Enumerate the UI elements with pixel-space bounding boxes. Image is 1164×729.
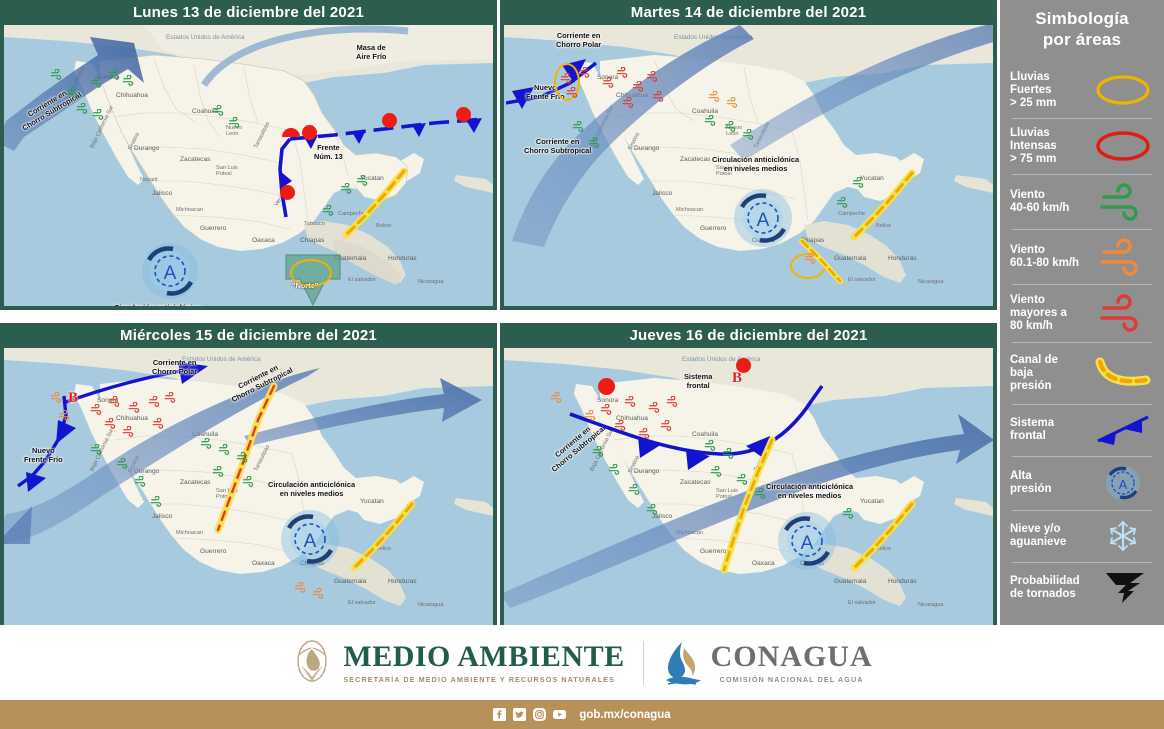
wind-icon-green	[356, 175, 369, 186]
legend-label-line3: 80 km/h	[1010, 320, 1067, 333]
wind-icon-green	[134, 476, 147, 487]
wind-icon-green	[588, 137, 601, 148]
cold-air-mass-arc	[194, 25, 424, 91]
legend-label: Alta presión	[1010, 470, 1052, 496]
legend-item-viento-80[interactable]: Viento mayores a 80 km/h	[1000, 284, 1164, 342]
annotation-frente-num-13: FrenteNúm. 13	[314, 143, 343, 161]
legend-item-alta-presion[interactable]: Alta presión A	[1000, 456, 1164, 510]
conagua-logo: CONAGUA COMISIÓN NACIONAL DEL AGUA	[662, 640, 873, 686]
wind-icon-green	[340, 183, 353, 194]
wind-green-icon	[1094, 183, 1152, 221]
map-canvas-martes[interactable]: Estados Unidos de América Chihuahua Coah…	[504, 25, 993, 306]
ellipse-red-icon	[1094, 127, 1152, 165]
trough-line-chiapas	[796, 237, 866, 297]
panel-title-martes: Martes 14 de diciembre del 2021	[500, 0, 997, 25]
wind-icon-orange	[50, 392, 63, 403]
infographic-root: Lunes 13 de diciembre del 2021	[0, 0, 1164, 729]
annotation-frontal-system-jueves: Sistemafrontal	[684, 372, 712, 390]
wind-icon-green	[608, 464, 621, 475]
trough-line-yucatan-miercoles	[334, 498, 424, 578]
map-grid: Lunes 13 de diciembre del 2021	[0, 0, 1000, 625]
brand-row: MEDIO AMBIENTE SECRETARÍA DE MEDIO AMBIE…	[0, 625, 1164, 700]
legend-label-line1: Nieve y/o	[1010, 523, 1066, 536]
wind-icon-green	[218, 444, 231, 455]
legend-label-line2: presión	[1010, 483, 1052, 496]
wind-icon-red	[660, 420, 673, 431]
map-panel-jueves[interactable]: Jueves 16 de diciembre del 2021	[500, 323, 997, 633]
tornado-icon	[1094, 569, 1152, 607]
wind-icon-red	[648, 402, 661, 413]
legend-label-line1: Viento	[1010, 244, 1079, 257]
legend-label: Viento 40-60 km/h	[1010, 189, 1069, 215]
wind-icon-red	[148, 396, 161, 407]
legend-label: Nieve y/o aguanieve	[1010, 523, 1066, 549]
svg-text:A: A	[757, 210, 770, 231]
snowflake-icon	[1094, 517, 1152, 555]
legend-label: Sistema frontal	[1010, 417, 1054, 443]
svg-text:A: A	[304, 531, 317, 552]
wind-icon-green	[852, 177, 865, 188]
trough-line-yucatan	[326, 165, 416, 245]
high-pressure-icon: A	[1094, 464, 1152, 502]
map-panel-miercoles[interactable]: Miércoles 15 de diciembre del 2021	[0, 323, 497, 633]
wind-icon-red	[164, 392, 177, 403]
wind-icon-green	[592, 446, 605, 457]
wind-icon-green	[724, 121, 737, 132]
legend-panel: Simbología por áreas Lluvias Fuertes > 2…	[1000, 0, 1164, 625]
wind-icon-red	[616, 67, 629, 78]
annotation-anticyclone-martes: Circulación anticiclónicaen niveles medi…	[712, 155, 799, 173]
wind-icon-green	[66, 87, 79, 98]
high-pressure-symbol-martes: A	[732, 187, 794, 249]
legend-label-line1: Alta	[1010, 470, 1052, 483]
ellipse-yellow-icon	[1094, 71, 1152, 109]
legend-item-nieve[interactable]: Nieve y/o aguanieve	[1000, 510, 1164, 562]
wind-icon-red	[90, 404, 103, 415]
wind-icon-red	[652, 91, 665, 102]
wind-icon-green	[212, 466, 225, 477]
legend-label-line2: aguanieve	[1010, 536, 1066, 549]
legend-label-line1: Probabilidad	[1010, 575, 1080, 588]
low-pressure-B-miercoles: B	[68, 390, 78, 407]
semarnat-text: MEDIO AMBIENTE SECRETARÍA DE MEDIO AMBIE…	[343, 642, 624, 683]
wind-icon-green	[742, 129, 755, 140]
wind-icon-red	[602, 77, 615, 88]
low-pressure-dot-4	[280, 185, 295, 200]
wind-icon-green	[90, 444, 103, 455]
low-pressure-dot-3	[456, 107, 471, 122]
wind-icon-green	[108, 69, 121, 80]
panel-title-miercoles: Miércoles 15 de diciembre del 2021	[0, 323, 497, 348]
legend-label-line1: Sistema	[1010, 417, 1054, 430]
legend-item-lluvias-fuertes[interactable]: Lluvias Fuertes > 25 mm	[1000, 62, 1164, 118]
svg-text:A: A	[1119, 477, 1128, 492]
conagua-text: CONAGUA COMISIÓN NACIONAL DEL AGUA	[711, 642, 873, 683]
wind-icon-green	[322, 205, 335, 216]
wind-icon-green	[754, 488, 767, 499]
wind-icon-red	[122, 426, 135, 437]
legend-item-viento-40-60[interactable]: Viento 40-60 km/h	[1000, 174, 1164, 229]
wind-icon-red	[614, 420, 627, 431]
low-pressure-dot-jueves-1	[598, 378, 615, 395]
low-pressure-B-jueves: B	[732, 370, 742, 387]
legend-title: Simbología por áreas	[1000, 8, 1164, 50]
wind-icon-red	[624, 396, 637, 407]
svg-text:A: A	[801, 533, 814, 554]
cold-front-icon	[1094, 411, 1152, 449]
wind-icon-green	[736, 474, 749, 485]
legend-label-line2: Fuertes	[1010, 84, 1056, 97]
wind-icon-green	[704, 440, 717, 451]
legend-label: Canal de baja presión	[1010, 354, 1058, 393]
wind-icon-red	[622, 97, 635, 108]
legend-item-tornados[interactable]: Probabilidad de tornados	[1000, 562, 1164, 614]
legend-items: Lluvias Fuertes > 25 mm Lluvias Intensas…	[1000, 62, 1164, 614]
legend-label-line1: Lluvias	[1010, 71, 1056, 84]
legend-label-line1: Viento	[1010, 294, 1067, 307]
legend-label-line1: Viento	[1010, 189, 1069, 202]
wind-icon-red	[108, 396, 121, 407]
wind-icon-green	[236, 452, 249, 463]
trough-line-northeast-jueves	[682, 436, 802, 576]
map-canvas-miercoles[interactable]: Estados Unidos de América Chihuahua Coah…	[4, 348, 493, 629]
heavy-rain-area-oaxaca	[290, 259, 332, 287]
footer-branding: MEDIO AMBIENTE SECRETARÍA DE MEDIO AMBIE…	[0, 625, 1164, 700]
wind-icon-green	[50, 69, 63, 80]
mexico-eagle-icon	[291, 639, 333, 687]
wind-icon-green	[92, 109, 105, 120]
svg-text:A: A	[164, 263, 177, 284]
social-bar: gob.mx/conagua	[0, 700, 1164, 729]
wind-icon-orange	[58, 410, 71, 421]
map-panel-martes[interactable]: Martes 14 de diciembre del 2021	[500, 0, 997, 310]
annotation-cold-air-mass: Masa deAire Frío	[356, 43, 386, 61]
legend-label-line2: 60.1-80 km/h	[1010, 257, 1079, 270]
legend-label-line2: Intensas	[1010, 140, 1057, 153]
panel-title-jueves: Jueves 16 de diciembre del 2021	[500, 323, 997, 348]
annotation-jet-polar-miercoles: Corriente enChorro Polar	[152, 358, 197, 376]
legend-item-viento-60-80[interactable]: Viento 60.1-80 km/h	[1000, 229, 1164, 284]
legend-label-line3: presión	[1010, 380, 1058, 393]
low-pressure-dot-1	[302, 125, 317, 140]
wind-icon-red	[632, 81, 645, 92]
legend-label: Lluvias Fuertes > 25 mm	[1010, 71, 1056, 110]
wind-icon-green	[646, 504, 659, 515]
wind-icon-orange	[312, 588, 325, 599]
wind-icon-red	[578, 67, 591, 78]
panel-title-lunes: Lunes 13 de diciembre del 2021	[0, 0, 497, 25]
legend-item-canal-baja-presion[interactable]: Canal de baja presión	[1000, 342, 1164, 404]
legend-label-line3: > 75 mm	[1010, 153, 1057, 166]
high-pressure-symbol-lunes: A	[139, 240, 201, 302]
cold-front-13	[94, 85, 493, 265]
instagram-icon[interactable]	[533, 708, 546, 721]
annotation-new-front-miercoles: NuevoFrente Frío	[24, 446, 63, 464]
wind-icon-green	[212, 105, 225, 116]
legend-label-line2: frontal	[1010, 430, 1054, 443]
legend-label-line2: mayores a	[1010, 307, 1067, 320]
wind-icon-green	[200, 438, 213, 449]
wind-icon-red	[566, 87, 579, 98]
wind-icon-red	[152, 418, 165, 429]
wind-icon-green	[722, 448, 735, 459]
wind-icon-green	[628, 484, 641, 495]
map-canvas-jueves[interactable]: Estados Unidos de América Chihuahua Coah…	[504, 348, 993, 629]
wind-icon-green	[116, 458, 129, 469]
legend-label-line1: Lluvias	[1010, 127, 1057, 140]
facebook-icon[interactable]	[493, 708, 506, 721]
wind-icon-green	[228, 117, 241, 128]
legend-item-sistema-frontal[interactable]: Sistema frontal	[1000, 404, 1164, 456]
wind-icon-green	[710, 466, 723, 477]
legend-label-line2: de tornados	[1010, 588, 1080, 601]
legend-label-line2: baja	[1010, 367, 1058, 380]
wind-icon-orange	[584, 410, 597, 421]
trough-icon	[1094, 354, 1152, 392]
wind-icon-red	[128, 402, 141, 413]
legend-title-line1: Simbología	[1000, 8, 1164, 29]
wind-icon-red	[600, 404, 613, 415]
wind-icon-green	[572, 121, 585, 132]
wind-icon-orange	[708, 91, 721, 102]
wind-icon-orange	[804, 253, 817, 264]
map-canvas-lunes[interactable]: Estados Unidos de América Chihuahua Coah…	[4, 25, 493, 306]
legend-item-lluvias-intensas[interactable]: Lluvias Intensas > 75 mm	[1000, 118, 1164, 174]
low-pressure-dot-2	[382, 113, 397, 128]
legend-label-line3: > 25 mm	[1010, 97, 1056, 110]
twitter-icon[interactable]	[513, 708, 526, 721]
conagua-title: CONAGUA	[711, 642, 873, 672]
legend-label: Viento mayores a 80 km/h	[1010, 294, 1067, 333]
wind-icon-orange	[726, 97, 739, 108]
wind-icon-red	[646, 71, 659, 82]
wind-icon-green	[90, 77, 103, 88]
map-panel-lunes[interactable]: Lunes 13 de diciembre del 2021	[0, 0, 497, 310]
conagua-subtitle: COMISIÓN NACIONAL DEL AGUA	[711, 676, 873, 683]
wind-icon-green	[704, 115, 717, 126]
website-url[interactable]: gob.mx/conagua	[579, 709, 670, 721]
subtropical-jet-band-martes	[644, 25, 993, 161]
semarnat-title: MEDIO AMBIENTE	[343, 642, 624, 672]
wind-icon-green	[150, 496, 163, 507]
wind-icon-orange	[550, 392, 563, 403]
legend-label: Lluvias Intensas > 75 mm	[1010, 127, 1057, 166]
wind-icon-green	[836, 197, 849, 208]
wind-icon-green	[76, 103, 89, 114]
youtube-icon[interactable]	[553, 708, 566, 721]
semarnat-subtitle: SECRETARÍA DE MEDIO AMBIENTE Y RECURSOS …	[343, 676, 624, 683]
semarnat-logo: MEDIO AMBIENTE SECRETARÍA DE MEDIO AMBIE…	[291, 639, 624, 687]
legend-label: Viento 60.1-80 km/h	[1010, 244, 1079, 270]
annotation-jet-polar-martes: Corriente enChorro Polar	[556, 31, 601, 49]
annotation-anticyclone-lunes: Circulación anticiclónicaen niveles medi…	[114, 303, 201, 306]
wind-icon-green	[122, 75, 135, 86]
legend-title-line2: por áreas	[1000, 29, 1164, 50]
wind-icon-red	[560, 73, 573, 84]
brand-divider	[643, 641, 644, 685]
wind-icon-red	[666, 396, 679, 407]
wind-icon-green	[242, 476, 255, 487]
legend-label: Probabilidad de tornados	[1010, 575, 1080, 601]
annotation-jet-subtropical-martes: Corriente enChorro Subtropical	[524, 137, 591, 155]
wind-icon-orange	[294, 582, 307, 593]
wind-icon-green	[842, 508, 855, 519]
wind-icon-red	[104, 418, 117, 429]
wind-red-icon	[1094, 294, 1152, 332]
legend-label-line1: Canal de	[1010, 354, 1058, 367]
wind-orange-icon	[1094, 238, 1152, 276]
legend-label-line2: 40-60 km/h	[1010, 202, 1069, 215]
wind-icon-red	[638, 428, 651, 439]
conagua-wave-icon	[662, 640, 702, 686]
